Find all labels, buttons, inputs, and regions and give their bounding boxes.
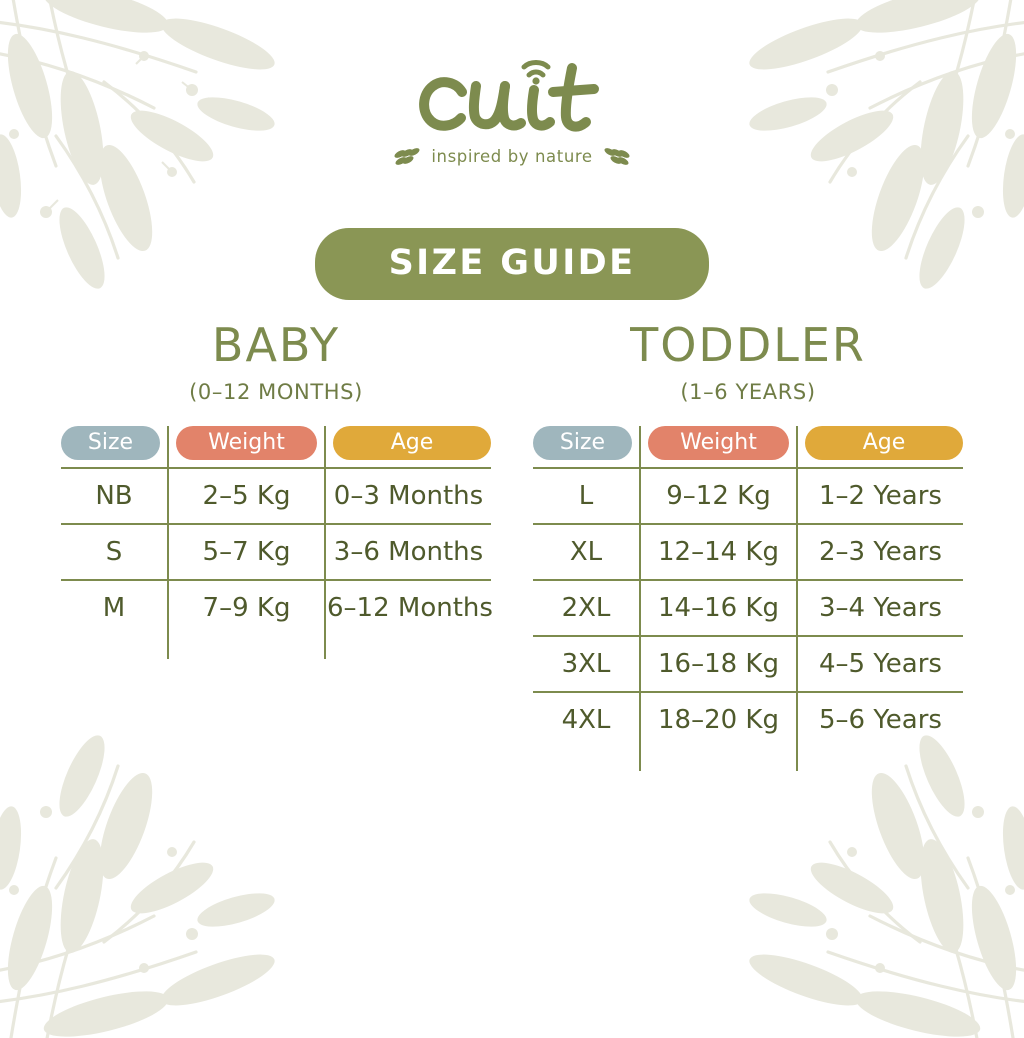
header-pill-size: Size [61, 426, 160, 460]
table-header-row: Size Weight Age [533, 426, 963, 468]
cell-age: 3–4 Years [797, 580, 963, 636]
cell-weight: 14–16 Kg [640, 580, 797, 636]
table-row: 3XL 16–18 Kg 4–5 Years [533, 636, 963, 692]
cell-size: 4XL [533, 692, 640, 747]
cell-size: M [61, 580, 168, 635]
column-header-size: Size [533, 426, 640, 468]
header-pill-age: Age [333, 426, 491, 460]
table-title-baby: BABY [61, 322, 491, 368]
table-row: NB 2–5 Kg 0–3 Months [61, 468, 491, 524]
header-pill-weight: Weight [648, 426, 789, 460]
brand-logo: inspired by nature [0, 52, 1024, 166]
table-tail [533, 747, 963, 771]
header-pill-weight: Weight [176, 426, 317, 460]
table-row: S 5–7 Kg 3–6 Months [61, 524, 491, 580]
brand-tagline-row: inspired by nature [0, 147, 1024, 166]
cell-weight: 2–5 Kg [168, 468, 325, 524]
cell-age: 5–6 Years [797, 692, 963, 747]
cell-weight: 16–18 Kg [640, 636, 797, 692]
cell-age: 3–6 Months [325, 524, 491, 580]
table-header-row: Size Weight Age [61, 426, 491, 468]
size-guide-page: inspired by nature SIZE GUIDE BABY (0–12… [0, 0, 1024, 1024]
table-tail [61, 635, 491, 659]
column-header-size: Size [61, 426, 168, 468]
cell-age: 2–3 Years [797, 524, 963, 580]
table-toddler: Size Weight Age L 9–12 Kg 1–2 Y [533, 426, 963, 771]
leaf-sprig-left-icon [393, 148, 421, 166]
cuit-wordmark-icon [402, 52, 622, 138]
column-header-weight: Weight [168, 426, 325, 468]
table-row: 4XL 18–20 Kg 5–6 Years [533, 692, 963, 747]
brand-wordmark [402, 52, 622, 138]
table-subtitle-toddler: (1–6 YEARS) [533, 380, 963, 404]
cell-weight: 7–9 Kg [168, 580, 325, 635]
size-tables-container: BABY (0–12 MONTHS) Size Weight Age [0, 322, 1024, 771]
table-row: 2XL 14–16 Kg 3–4 Years [533, 580, 963, 636]
cell-size: 2XL [533, 580, 640, 636]
cell-weight: 12–14 Kg [640, 524, 797, 580]
leaf-sprig-right-icon [603, 148, 631, 166]
header-pill-age: Age [805, 426, 963, 460]
page-title: SIZE GUIDE [315, 228, 710, 300]
table-row: XL 12–14 Kg 2–3 Years [533, 524, 963, 580]
table-subtitle-baby: (0–12 MONTHS) [61, 380, 491, 404]
cell-weight: 18–20 Kg [640, 692, 797, 747]
size-table-toddler: TODDLER (1–6 YEARS) Size Weight Age [533, 322, 963, 771]
cell-size: S [61, 524, 168, 580]
cell-size: NB [61, 468, 168, 524]
table-baby: Size Weight Age NB 2–5 Kg 0–3 M [61, 426, 491, 659]
page-title-container: SIZE GUIDE [0, 228, 1024, 300]
wifi-icon [532, 77, 539, 84]
cell-age: 0–3 Months [325, 468, 491, 524]
cell-size: XL [533, 524, 640, 580]
cell-weight: 9–12 Kg [640, 468, 797, 524]
cell-age: 4–5 Years [797, 636, 963, 692]
table-row: L 9–12 Kg 1–2 Years [533, 468, 963, 524]
table-title-toddler: TODDLER [533, 322, 963, 368]
cell-size: 3XL [533, 636, 640, 692]
column-header-age: Age [797, 426, 963, 468]
cell-weight: 5–7 Kg [168, 524, 325, 580]
cell-size: L [533, 468, 640, 524]
column-header-weight: Weight [640, 426, 797, 468]
size-table-baby: BABY (0–12 MONTHS) Size Weight Age [61, 322, 491, 771]
header-pill-size: Size [533, 426, 632, 460]
column-header-age: Age [325, 426, 491, 468]
brand-tagline-text: inspired by nature [431, 147, 592, 166]
table-row: M 7–9 Kg 6–12 Months [61, 580, 491, 635]
cell-age: 6–12 Months [325, 580, 491, 635]
cell-age: 1–2 Years [797, 468, 963, 524]
